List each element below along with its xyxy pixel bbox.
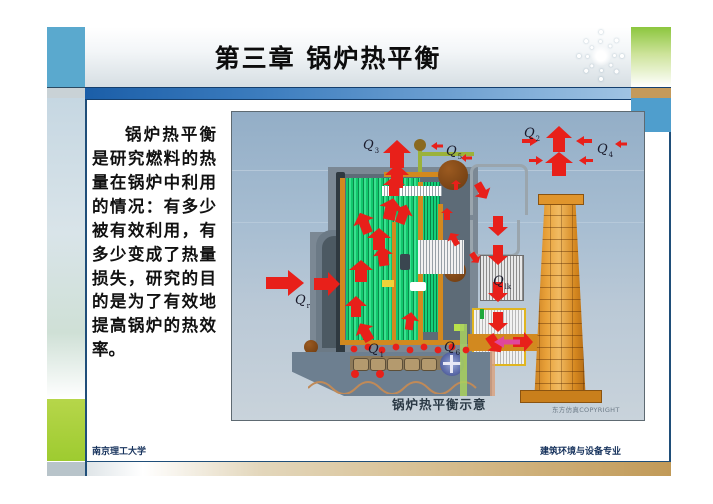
stack-loss-arrow (545, 126, 573, 152)
fuel-input-arrow (314, 272, 340, 296)
qlk-arrow (494, 336, 520, 348)
starburst-icon (573, 28, 629, 84)
heat-arrow-up (399, 311, 421, 332)
loss-arrow-small (461, 154, 472, 162)
slide: 第三章 锅炉热平衡 锅炉热平衡是研究燃料的热量在锅炉中利用的情况：有多少被有效利… (0, 0, 713, 504)
loss-arrow-small (431, 142, 443, 150)
header-green-block (631, 27, 671, 87)
stack-loss-arrow (543, 152, 575, 176)
heat-arrow-up (371, 245, 396, 268)
label-q3: Q3 (363, 134, 379, 155)
chimney-base (520, 390, 602, 403)
grate-cell (421, 358, 437, 371)
ash-conveyor-wave (308, 374, 478, 394)
chimney-cap (538, 194, 584, 205)
heat-arrow-up (382, 176, 406, 196)
decor-strip-gradient (47, 98, 85, 399)
body-paragraph: 锅炉热平衡是研究燃料的热量在锅炉中利用的情况：有多少被有效利用，有多少变成了热量… (92, 123, 216, 362)
footer-gradient-bar (143, 462, 671, 476)
footer-white-block (87, 462, 143, 476)
ember-dots (350, 368, 390, 380)
stack-loss-arrow-small (579, 156, 593, 165)
label-q4: Q4 (597, 138, 613, 159)
label-qlk: Qlk (493, 270, 511, 291)
grate-cell (404, 358, 420, 371)
label-qr: Qr (295, 289, 310, 310)
chimney-brick-pattern (528, 200, 592, 396)
loss-arrow (440, 208, 454, 220)
ash-hopper-port (304, 340, 318, 354)
decor-strip-foot-gray (47, 462, 85, 476)
decor-strip-blue-top (47, 27, 85, 87)
heat-arrow-up (344, 296, 368, 317)
yellow-marker (382, 280, 394, 287)
flue-gas-arrow-down (487, 216, 509, 236)
heat-arrow-up (348, 260, 374, 282)
page-title: 第三章 锅炉热平衡 (85, 27, 631, 87)
label-q1: Q1 (368, 338, 384, 359)
boiler-heat-balance-figure: Q3 Q5 Q2 Q4 Qr Q1 Qlk Q6 锅炉热平衡示意 东方仿真COP… (231, 111, 645, 421)
fan-blade (443, 362, 461, 365)
footer-department: 建筑环境与设备专业 (540, 444, 621, 457)
loss-arrow-small (615, 140, 627, 148)
label-q2: Q2 (524, 122, 540, 143)
downcomer-pipe (340, 178, 345, 344)
figure-caption: 锅炉热平衡示意 (392, 394, 487, 413)
label-q6: Q6 (444, 336, 460, 357)
dark-nozzle (400, 254, 410, 270)
instrument-block (410, 282, 426, 291)
figure-watermark: 东方仿真COPYRIGHT (552, 404, 620, 414)
label-q5: Q5 (446, 140, 462, 161)
footer-university: 南京理工大学 (92, 444, 146, 457)
loss-arrow (450, 180, 462, 190)
green-air-arrow (480, 309, 484, 319)
stack-loss-arrow-small (576, 136, 592, 146)
air-supply-column (460, 324, 467, 396)
stack-loss-arrow-small (529, 156, 543, 165)
flue-gas-arrow-down (487, 245, 509, 265)
header-blue-rule (85, 87, 631, 100)
decor-strip-green (47, 399, 85, 461)
riser-pipe (438, 204, 443, 344)
burner-head (414, 139, 426, 151)
